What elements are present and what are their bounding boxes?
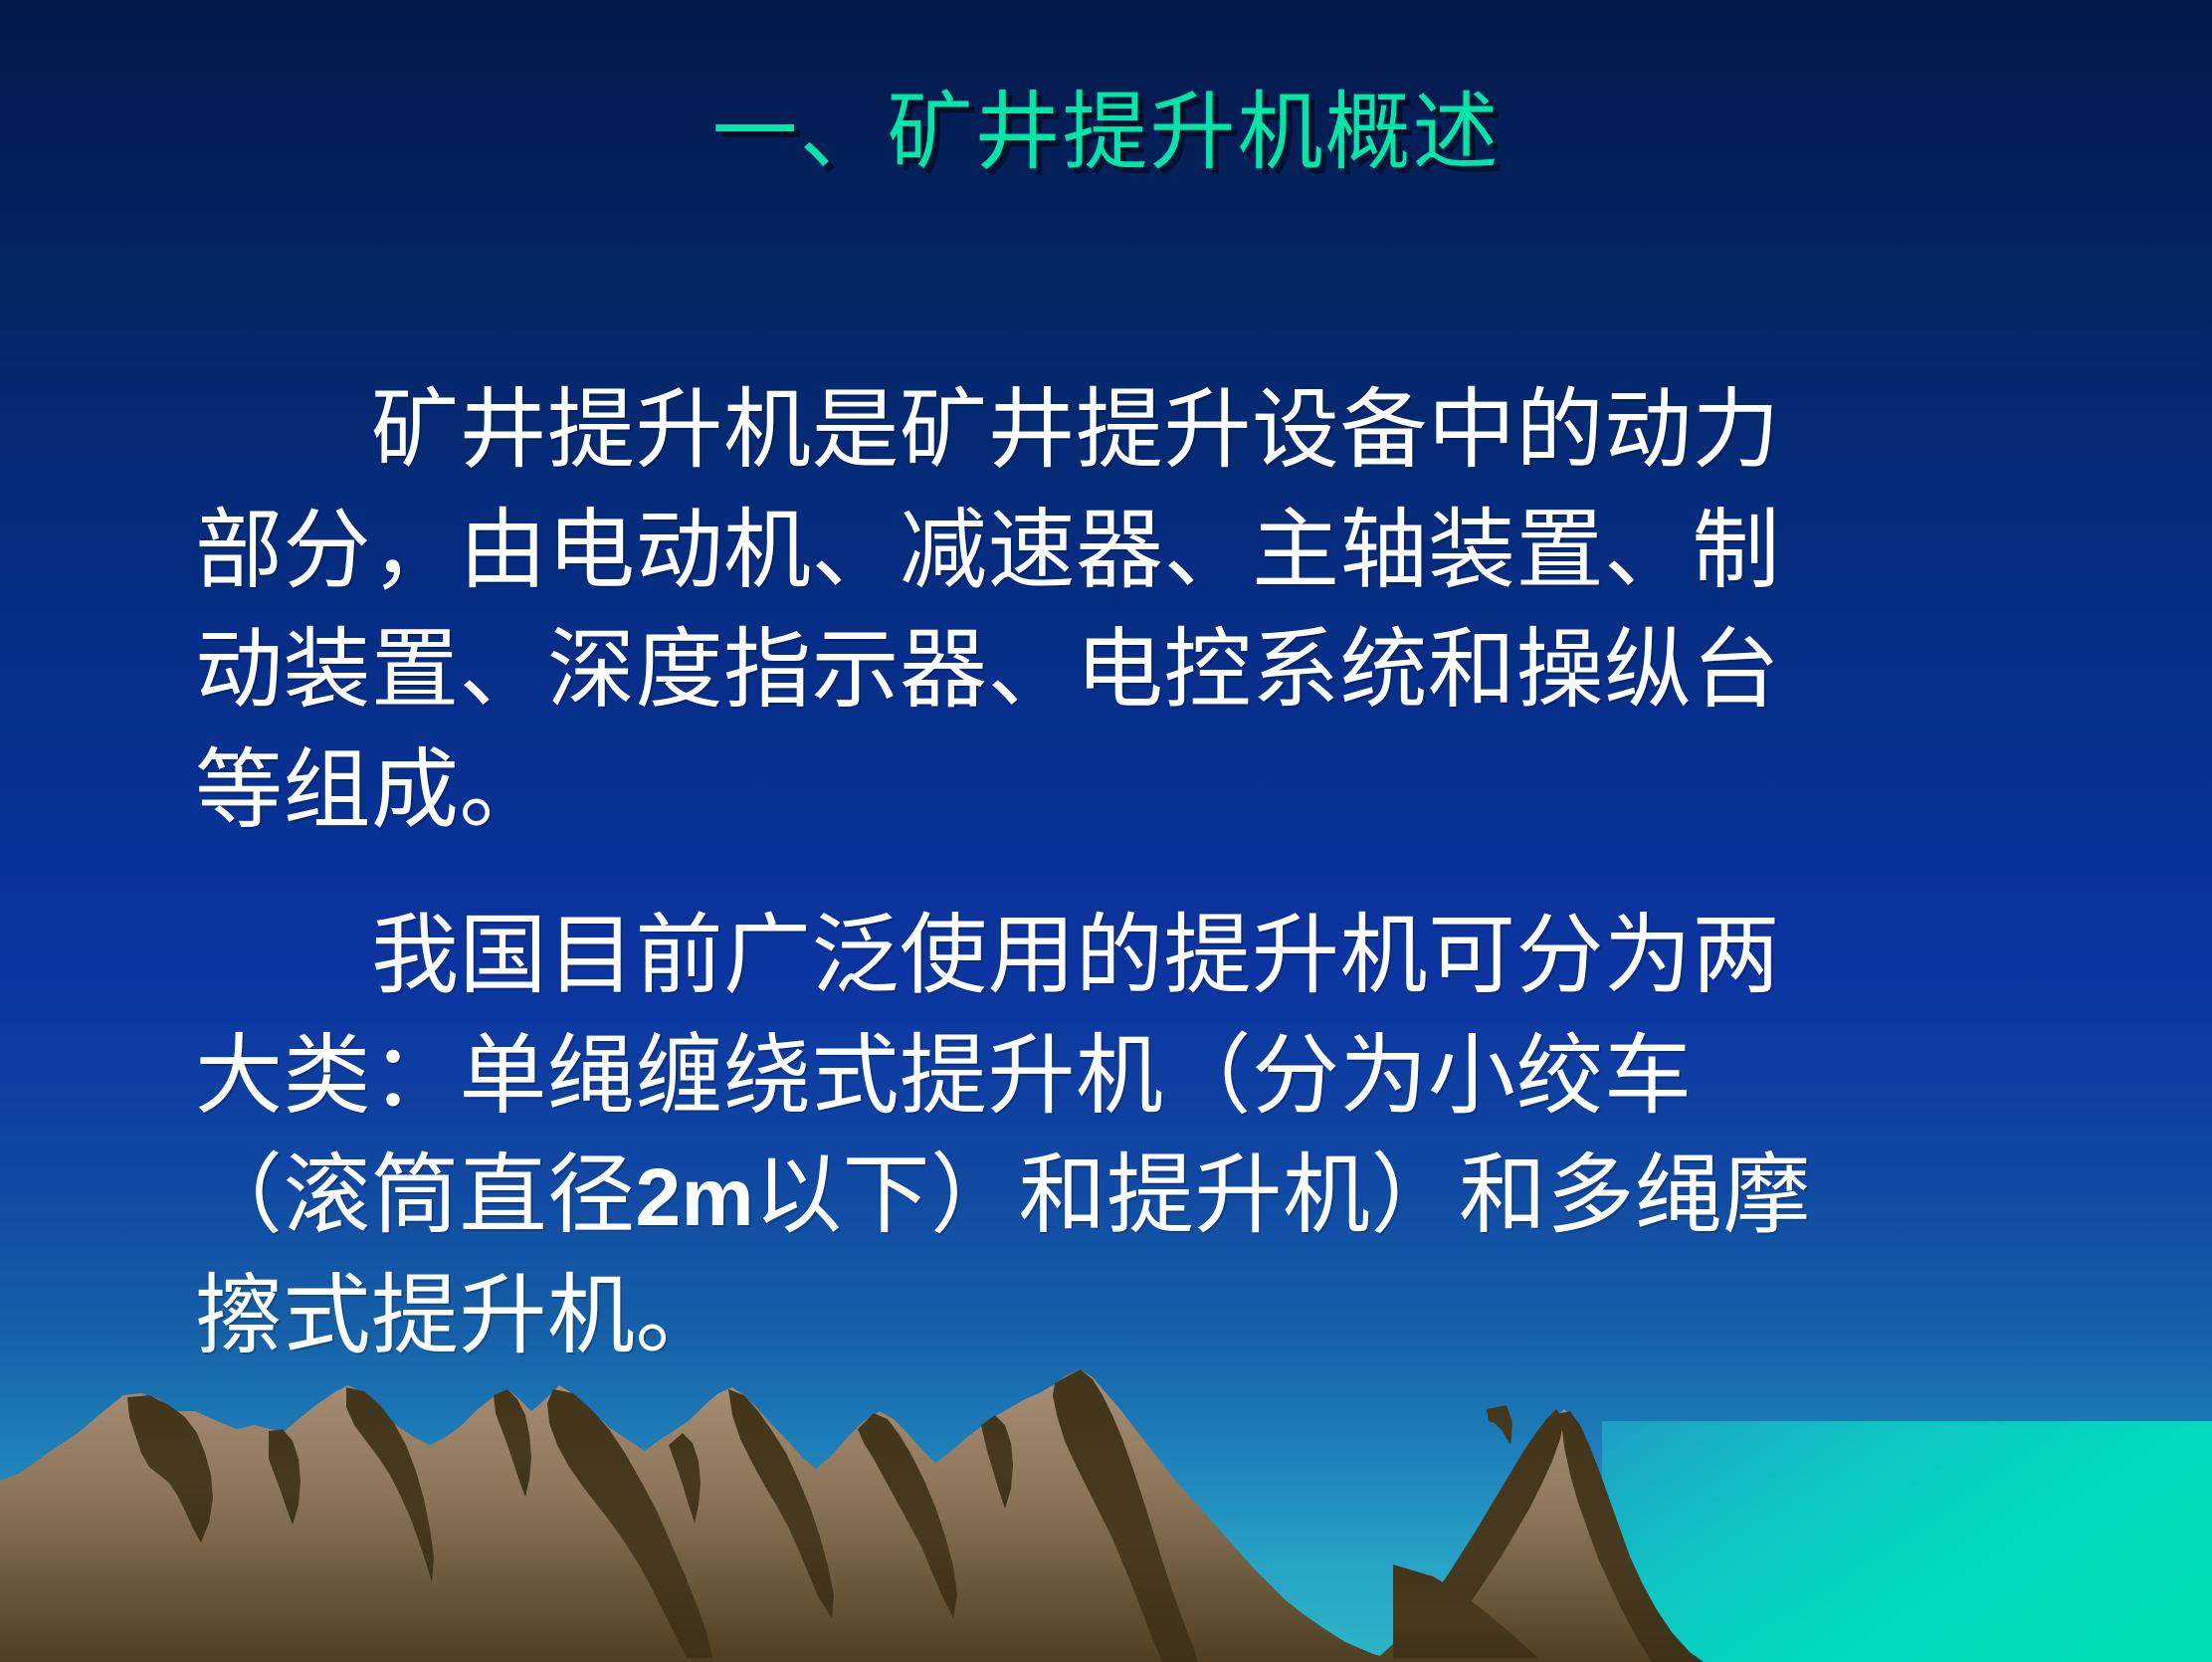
mountain-shadow-3 — [346, 1387, 434, 1582]
slide-title-block: 一、矿井提升机概述 — [0, 88, 2212, 177]
body-paragraph-1: 矿井提升机是矿井提升设备中的动力部分，由电动机、减速器、主轴装置、制动装置、深度… — [195, 370, 2086, 850]
sea-area — [1602, 1421, 2212, 1662]
mountain-shadow-10 — [1053, 1369, 1198, 1662]
paragraph-1-line-3: 动装置、深度指示器、电控系统和操纵台 — [195, 618, 1780, 721]
paragraph-2-line-1: 我国目前广泛使用的提升机可分为两 — [195, 904, 1780, 1006]
presentation-slide: 一、矿井提升机概述 矿井提升机是矿井提升设备中的动力部分，由电动机、减速器、主轴… — [0, 0, 2212, 1662]
mountain-shadow-13 — [1393, 1564, 1538, 1658]
paragraph-1-line-4: 等组成。 — [195, 738, 547, 841]
mountain-shadow-12 — [1560, 1411, 1704, 1662]
mountain-shadow-9 — [981, 1415, 1013, 1509]
mountain-notch-1 — [1487, 1405, 1512, 1445]
paragraph-1-line-2: 部分，由电动机、减速器、主轴装置、制 — [195, 499, 1780, 601]
paragraph-2-line-4: 擦式提升机。 — [195, 1264, 723, 1366]
slide-title: 一、矿井提升机概述 — [712, 88, 1501, 177]
paragraph-2-line-3: （滚筒直径2m以下）和提升机）和多绳摩 — [195, 1143, 1811, 1246]
mountain-shadow-11 — [1407, 1409, 1564, 1658]
slide-body: 矿井提升机是矿井提升设备中的动力部分，由电动机、减速器、主轴装置、制动装置、深度… — [195, 370, 2086, 1395]
mountain-shadow-1 — [127, 1395, 213, 1543]
mountain-shadow-6 — [669, 1433, 701, 1523]
paragraph-1-line-1: 矿井提升机是矿井提升设备中的动力 — [195, 378, 1780, 481]
mountain-shadow-7 — [728, 1389, 834, 1618]
emphasis-drum-diameter: 2m — [636, 1152, 755, 1243]
mountain-shadow-5 — [547, 1389, 712, 1658]
mountain-shadow-4 — [494, 1389, 531, 1497]
mountain-shadow-2 — [269, 1429, 301, 1525]
body-paragraph-2: 我国目前广泛使用的提升机可分为两大类：单绳缠绕式提升机（分为小绞车（滚筒直径2m… — [195, 896, 2086, 1375]
paragraph-2-line-2: 大类：单绳缠绕式提升机（分为小绞车 — [195, 1024, 1693, 1127]
mountain-right-ridge — [1373, 1409, 1702, 1662]
mountain-shadow-8 — [858, 1413, 957, 1618]
mountain-light-mass — [0, 1369, 1403, 1662]
